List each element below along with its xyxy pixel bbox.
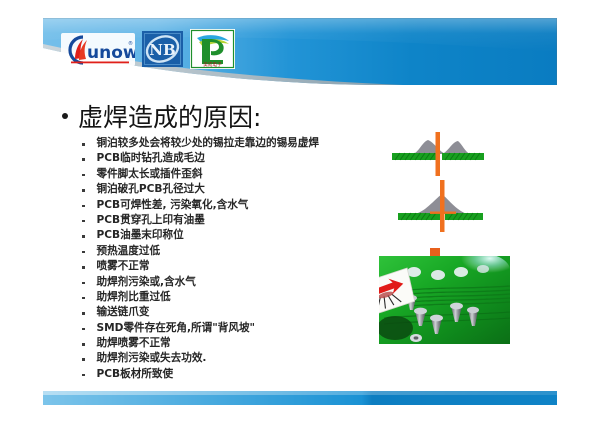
list-item-label: SMD零件存在死角,所谓"背风坡"	[97, 321, 256, 335]
list-item-label: 助焊剂污染或,含水气	[97, 275, 196, 289]
green-electronics-logo-caption: 美成电子	[203, 61, 222, 68]
header-logo-group: unow ® NB	[61, 29, 235, 69]
list-item-label: 助焊剂污染或失去功效.	[97, 351, 207, 365]
list-item: PCB可焊性差, 污染氧化,含水气	[82, 198, 382, 213]
list-item-label: 助焊剂比重过低	[97, 290, 171, 304]
list-item: 零件脚太长或插件歪斜	[82, 167, 382, 182]
list-item: 预热温度过低	[82, 244, 382, 259]
list-item-label: PCB油墨末印称位	[97, 228, 184, 242]
bullet-dot-icon	[82, 312, 85, 315]
bullet-dot-icon	[82, 297, 85, 300]
nb-logo-wordmark: NB	[149, 41, 175, 59]
list-item: PCB板材所致使	[82, 367, 382, 382]
nb-logo: NB	[142, 31, 183, 67]
bullet-dot-icon	[82, 158, 85, 161]
slide-header-banner: unow ® NB	[43, 18, 557, 85]
bullet-dot-icon	[82, 189, 85, 192]
list-item-label: 零件脚太长或插件歪斜	[97, 167, 203, 181]
list-item-label: 助焊喷雾不正常	[97, 336, 171, 350]
pcb-solder-pins-photo	[379, 256, 510, 344]
list-item: 喷雾不正常	[82, 259, 382, 274]
bullet-dot-icon	[82, 220, 85, 223]
list-item: 助焊喷雾不正常	[82, 336, 382, 351]
bullet-dot-icon	[82, 358, 85, 361]
list-item-label: PCB可焊性差, 污染氧化,含水气	[97, 198, 249, 212]
bullet-dot-icon	[82, 174, 85, 177]
list-item-label: PCB板材所致使	[97, 367, 174, 381]
bullet-dot-icon	[82, 266, 85, 269]
list-item: PCB油墨末印称位	[82, 228, 382, 243]
bullet-dot-icon	[82, 374, 85, 377]
list-item: PCB贯穿孔上印有油墨	[82, 213, 382, 228]
list-item-label: PCB临时钻孔造成毛边	[97, 151, 205, 165]
list-item: 助焊剂污染或,含水气	[82, 275, 382, 290]
list-item: 助焊剂污染或失去功效.	[82, 351, 382, 366]
solder-joint-cross-section-bridged	[390, 128, 500, 180]
bullet-dot-icon	[82, 251, 85, 254]
title-bullet-icon	[62, 113, 68, 119]
list-item: 铜泊破孔PCB孔径过大	[82, 182, 382, 197]
list-item-label: PCB贯穿孔上印有油墨	[97, 213, 205, 227]
list-item: 铜泊较多处会将较少处的锡拉走靠边的锡易虚焊	[82, 136, 382, 151]
slide-footer-bar	[43, 391, 557, 405]
svg-text:®: ®	[128, 40, 133, 47]
list-item-label: 输送链爪变	[97, 305, 150, 319]
bullet-dot-icon	[82, 235, 85, 238]
list-item: PCB临时钻孔造成毛边	[82, 151, 382, 166]
list-item-label: 喷雾不正常	[97, 259, 150, 273]
unow-logo: unow ®	[61, 33, 135, 66]
bullet-dot-icon	[82, 328, 85, 331]
slide-canvas: unow ® NB	[0, 0, 600, 424]
list-item: 输送链爪变	[82, 305, 382, 320]
list-item-label: 铜泊较多处会将较少处的锡拉走靠边的锡易虚焊	[97, 136, 319, 150]
bullet-dot-icon	[82, 143, 85, 146]
list-item: SMD零件存在死角,所谓"背风坡"	[82, 321, 382, 336]
page-title-text: 虚焊造成的原因:	[78, 104, 261, 131]
list-item-label: 预热温度过低	[97, 244, 161, 258]
bullet-list: 铜泊较多处会将较少处的锡拉走靠边的锡易虚焊 PCB临时钻孔造成毛边 零件脚太长或…	[82, 136, 382, 382]
solder-joint-cross-section-cold	[390, 180, 500, 232]
bullet-dot-icon	[82, 343, 85, 346]
page-title: 虚焊造成的原因:	[62, 104, 261, 131]
footer-highlight	[43, 391, 557, 395]
list-item: 助焊剂比重过低	[82, 290, 382, 305]
bullet-dot-icon	[82, 205, 85, 208]
list-item-label: 铜泊破孔PCB孔径过大	[97, 182, 205, 196]
bullet-dot-icon	[82, 282, 85, 285]
green-electronics-logo: 美成电子	[190, 29, 235, 69]
